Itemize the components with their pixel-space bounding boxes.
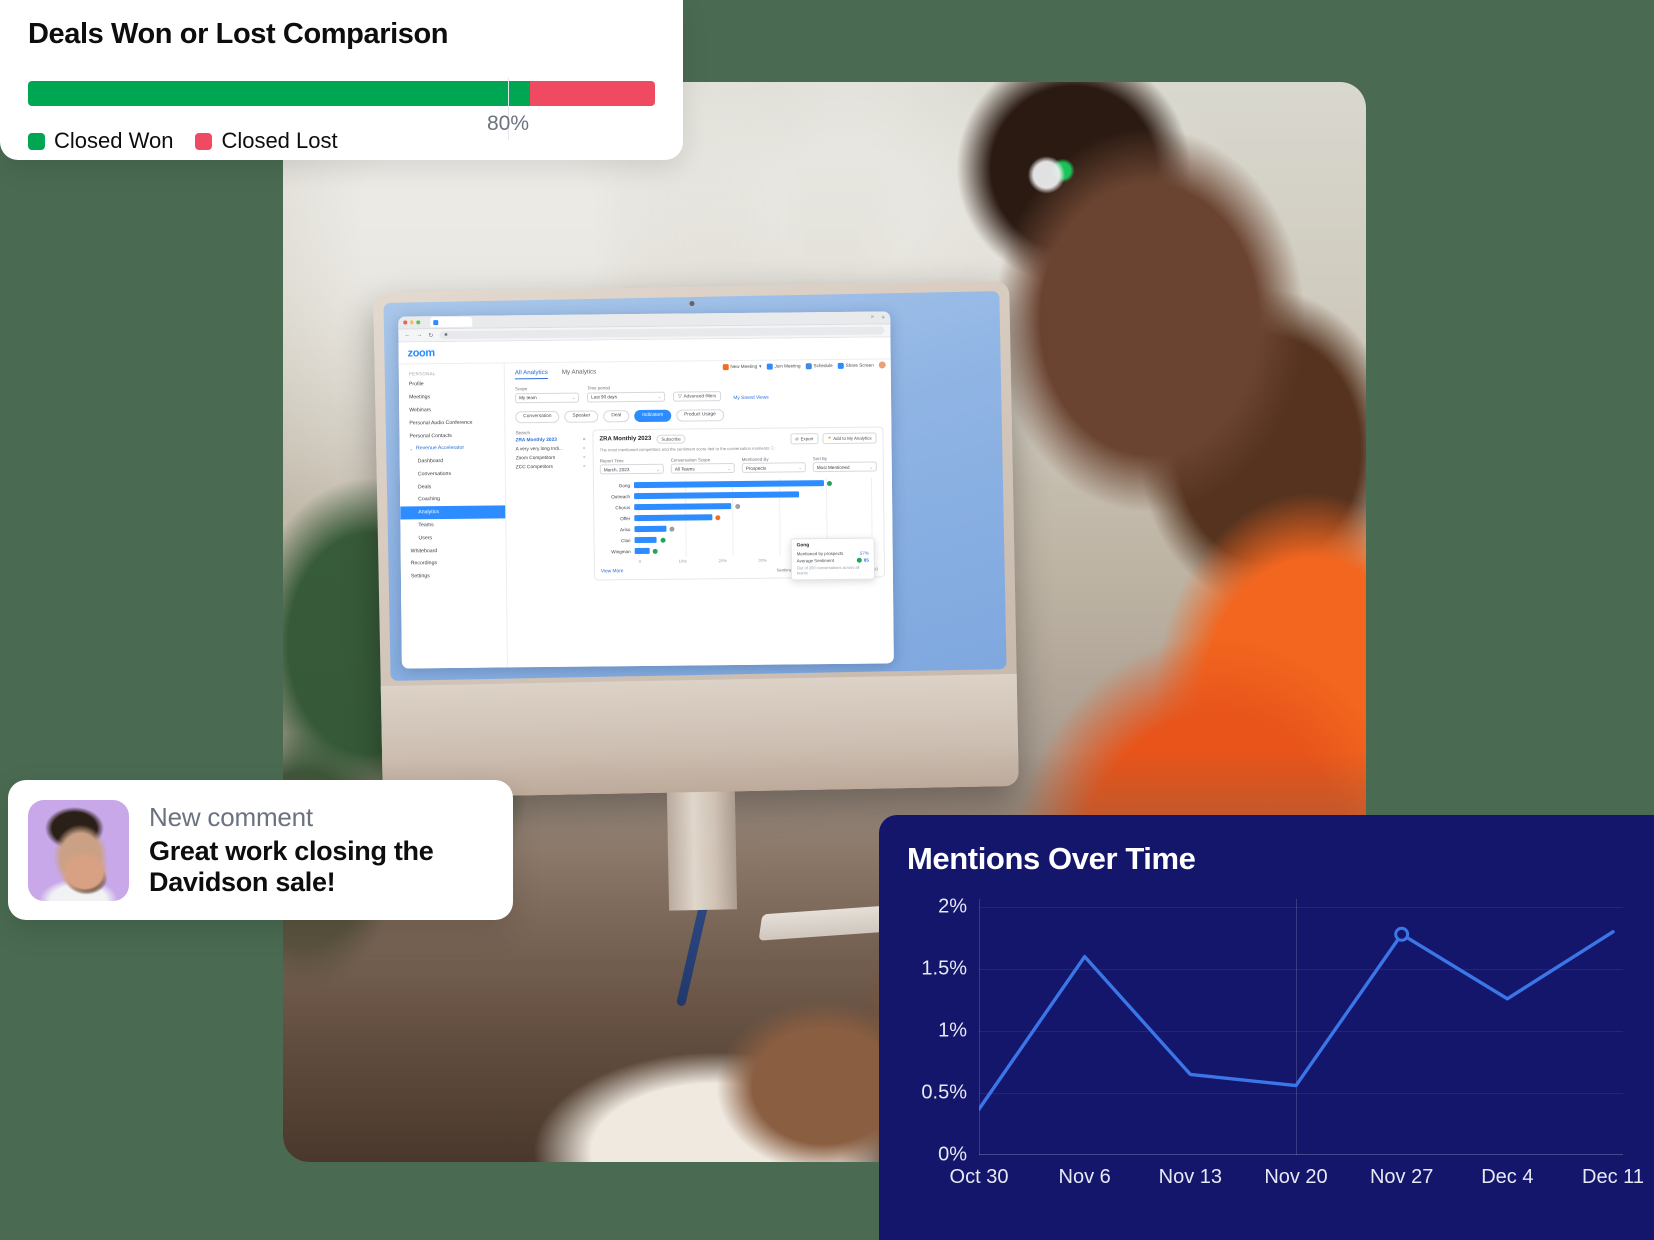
pill-product-usage[interactable]: Product Usage [676, 409, 724, 421]
subscribe-button[interactable]: Subscribe [656, 434, 686, 443]
pill-deal[interactable]: Deal [603, 410, 629, 422]
sidebar-item-whiteboard[interactable]: Whiteboard [401, 544, 506, 558]
favicon-icon [433, 320, 438, 325]
export-button[interactable]: ⎆ Export [790, 433, 818, 444]
deals-legend: Closed Won Closed Lost [28, 128, 655, 154]
bar-label: Ariso [600, 527, 634, 532]
comment-kicker: New comment [149, 802, 493, 833]
export-label: Export [801, 436, 814, 441]
tooltip-label: Mentioned by prospects [797, 550, 844, 555]
time-period-label: Time period [587, 385, 665, 391]
y-axis-tick: 0% [907, 1144, 967, 1167]
close-icon[interactable] [403, 321, 407, 325]
line-series [979, 899, 1623, 1189]
chevron-down-icon: ▾ [759, 363, 761, 369]
swatch-red-icon [195, 133, 212, 150]
bar-label: Chorus [600, 505, 634, 510]
browser-tab[interactable] [430, 317, 472, 327]
scope-label: Scope [515, 386, 579, 392]
chevron-down-icon: ⌄ [727, 466, 730, 471]
sentiment-dot-positive [827, 481, 832, 486]
closed-won-segment [28, 81, 530, 106]
minimize-icon[interactable] [410, 321, 414, 325]
star-icon: ★ [827, 435, 831, 441]
sidebar-item-users[interactable]: Users [400, 531, 505, 545]
y-axis-tick: 2% [907, 896, 967, 919]
scope-select[interactable]: My team ⌄ [515, 392, 579, 403]
category-pills: Conversation Speaker Deal Indicators Pro… [515, 407, 883, 423]
report-time-select[interactable]: March, 2023 ⌄ [600, 464, 664, 475]
closed-lost-label: Closed Lost [221, 128, 337, 154]
report-time-filter: Report Time March, 2023 ⌄ [600, 457, 664, 474]
report-time-label: Report Time [600, 457, 664, 463]
mentioned-by-filter: Mentioned By Prospects ⌄ [742, 456, 806, 473]
legend-closed-lost: Closed Lost [195, 128, 337, 154]
search-label: Search [515, 429, 585, 435]
mentions-over-time-card: Mentions Over Time 0%0.5%1%1.5%2%Oct 30N… [879, 815, 1654, 1240]
sidebar-item-recordings[interactable]: Recordings [401, 556, 506, 570]
share-screen-label: Share Screen [846, 363, 874, 368]
zoom-logo[interactable]: zoom [408, 347, 435, 359]
card-title: ZRA Monthly 2023 [599, 436, 651, 443]
chart-title: Mentions Over Time [907, 841, 1654, 877]
bar-fill [634, 491, 799, 499]
schedule-button[interactable]: Schedule [805, 362, 832, 368]
legend-closed-won: Closed Won [28, 128, 173, 154]
pill-indicators[interactable]: Indicators [634, 409, 671, 421]
competitor-bar-chart: Gong Outreach [600, 478, 878, 558]
chip-label: Zoom Competitors [516, 455, 556, 460]
x-tick: 0 [639, 559, 679, 564]
bar-fill [635, 548, 650, 554]
tooltip-label: Average Sentiment [797, 557, 834, 562]
chevron-down-icon: ⌄ [656, 466, 659, 471]
close-icon[interactable]: × [583, 455, 586, 460]
card-description: The most mentioned competitors and the s… [600, 444, 877, 453]
avatar [28, 800, 129, 901]
chip-label: ZCC Competitors [516, 464, 553, 469]
chevron-down-icon: ⌄ [869, 464, 872, 469]
close-icon[interactable]: × [583, 464, 586, 469]
sort-by-value: Most Mentioned [817, 464, 850, 469]
tooltip-value: 85 [857, 557, 869, 562]
my-saved-views-link[interactable]: My Saved Views [733, 395, 768, 400]
mentions-line-chart: 0%0.5%1%1.5%2%Oct 30Nov 6Nov 13Nov 20Nov… [907, 899, 1623, 1189]
sidebar-item-analytics[interactable]: Analytics [400, 505, 505, 519]
sentiment-dot-neutral [670, 526, 675, 531]
tooltip-row-sentiment: Average Sentiment 85 [797, 557, 869, 563]
avatar-photo [28, 800, 129, 901]
sidebar-item-profile[interactable]: Profile [399, 377, 504, 391]
sentiment-dot-positive [653, 548, 658, 553]
chevron-down-icon: ⌄ [410, 446, 413, 451]
card-filter-row: Report Time March, 2023 ⌄ Conversation S… [600, 455, 877, 474]
join-meeting-button[interactable]: Join Meeting [766, 363, 800, 369]
sentiment-dot-neutral [735, 504, 740, 509]
comment-message: Great work closing the Davidson sale! [149, 836, 493, 899]
share-screen-button[interactable]: Share Screen [838, 362, 874, 368]
my-saved-views-label: My Saved Views [733, 395, 768, 400]
back-icon[interactable]: ← [404, 332, 410, 338]
bar-label: Offer [600, 516, 634, 521]
bar-label: Wingman [601, 549, 635, 554]
swatch-green-icon [28, 133, 45, 150]
sidebar-item-teams[interactable]: Teams [400, 518, 505, 532]
page-title: Deals Won or Lost Comparison [28, 18, 655, 51]
browser-window[interactable]: × + ← → ↻ ■ zoom PERSONAL Profil [398, 311, 894, 668]
zoom-app: zoom PERSONAL Profile Meetings Webinars … [398, 337, 893, 668]
reload-icon[interactable]: ↻ [428, 332, 433, 339]
sort-by-label: Sort By [813, 455, 877, 461]
schedule-label: Schedule [813, 363, 832, 368]
new-tab-icon[interactable]: + [881, 314, 885, 321]
bar-fill [634, 503, 731, 510]
add-label: Add to My Analytics [833, 435, 871, 440]
deals-comparison-card: Deals Won or Lost Comparison Closed Won … [0, 0, 683, 160]
sort-by-filter: Sort By Most Mentioned ⌄ [813, 455, 877, 472]
sidebar-item-settings[interactable]: Settings [401, 569, 506, 583]
time-period-value: Last 90 days [591, 394, 617, 399]
deals-percent-label: 80% [487, 112, 529, 136]
bar-tooltip: Gong Mentioned by prospects 57% Average … [791, 538, 875, 581]
sentiment-dot-positive [857, 557, 862, 562]
close-icon[interactable]: × [583, 446, 586, 451]
add-to-my-analytics-button[interactable]: ★ Add to My Analytics [822, 432, 876, 444]
maximize-icon[interactable] [416, 321, 420, 325]
pill-speaker[interactable]: Speaker [564, 410, 598, 422]
tooltip-title: Gong [797, 543, 869, 549]
scope-value: My team [519, 395, 537, 400]
bar-label: Clari [601, 538, 635, 543]
forward-icon[interactable]: → [416, 332, 422, 338]
y-axis-tick: 1.5% [907, 958, 967, 981]
sidebar-item-coaching[interactable]: Coaching [400, 492, 505, 506]
info-icon[interactable]: ⓘ [770, 445, 774, 450]
filter-icon: ▽ [678, 393, 682, 399]
imac-screen: × + ← → ↻ ■ zoom PERSONAL Profil [383, 291, 1006, 681]
report-time-value: March, 2023 [604, 467, 630, 472]
tooltip-row-mentioned: Mentioned by prospects 57% [797, 550, 869, 556]
deals-progress-bar [28, 81, 655, 106]
sentiment-dot-positive [660, 537, 665, 542]
tab-close-icon[interactable]: × [871, 315, 879, 321]
search-chip-zcc-competitors[interactable]: ZCC Competitors × [516, 464, 586, 470]
app-main: New Meeting ▾ Join Meeting Schedule [504, 337, 893, 667]
closed-won-label: Closed Won [54, 128, 173, 154]
sidebar-item-revenue-accelerator[interactable]: ⌄ Revenue Accelerator [400, 441, 505, 455]
new-comment-card[interactable]: New comment Great work closing the David… [8, 780, 513, 920]
sort-by-select[interactable]: Most Mentioned ⌄ [813, 462, 877, 473]
sidebar-item-conversations[interactable]: Conversations [400, 467, 505, 481]
comment-text-block: New comment Great work closing the David… [149, 802, 493, 899]
card-actions: ⎆ Export ★ Add to My Analytics [790, 432, 877, 444]
search-chip-long-indicator[interactable]: A very very long Indi... × [516, 446, 586, 452]
close-icon[interactable]: × [583, 437, 586, 442]
conversation-scope-value: All Teams [675, 466, 695, 471]
scope-filter: Scope My team ⌄ [515, 386, 579, 403]
x-tick: 20% [718, 558, 758, 563]
tab-my-analytics[interactable]: My Analytics [562, 368, 596, 378]
filter-bar: Scope My team ⌄ Time period Last 90 days [515, 382, 883, 402]
zra-report-card: ZRA Monthly 2023 Subscribe ⎆ Export [592, 426, 885, 581]
view-more-link[interactable]: View More [601, 569, 624, 574]
search-chip-zoom-competitors[interactable]: Zoom Competitors × [516, 455, 586, 461]
sidebar-item-label: Revenue Accelerator [416, 445, 464, 452]
video-icon [722, 364, 728, 370]
join-meeting-label: Join Meeting [774, 363, 800, 368]
conversation-scope-filter: Conversation Scope All Teams ⌄ [671, 457, 735, 474]
bar-label: Outreach [600, 494, 634, 499]
pill-conversation[interactable]: Conversation [515, 410, 559, 422]
chevron-down-icon: ⌄ [658, 394, 661, 399]
time-period-select[interactable]: Last 90 days ⌄ [587, 391, 665, 402]
chevron-down-icon: ⌄ [798, 465, 801, 470]
y-axis-tick: 1% [907, 1020, 967, 1043]
chip-label: A very very long Indi... [516, 446, 563, 451]
plus-square-icon [766, 363, 772, 369]
webcam-icon [689, 301, 694, 306]
content-columns: Search ZRA Monthly 2023 × A very very lo… [515, 426, 885, 581]
tooltip-value: 57% [860, 550, 869, 555]
calendar-icon [805, 363, 811, 369]
imac-computer: × + ← → ↻ ■ zoom PERSONAL Profil [373, 281, 1019, 798]
export-icon: ⎆ [795, 436, 799, 441]
conversation-scope-select[interactable]: All Teams ⌄ [671, 463, 735, 474]
advanced-filters-label: Advanced filters [684, 393, 717, 398]
chip-label: ZRA Monthly 2023 [515, 437, 556, 442]
mentioned-by-value: Prospects [746, 465, 766, 470]
sidebar-item-personal-audio-conference[interactable]: Personal Audio Conference [399, 416, 504, 430]
tab-all-analytics[interactable]: All Analytics [515, 369, 548, 379]
share-icon [838, 362, 844, 368]
app-sidebar: PERSONAL Profile Meetings Webinars Perso… [398, 341, 507, 668]
mentioned-by-label: Mentioned By [742, 456, 806, 462]
y-axis-tick: 0.5% [907, 1082, 967, 1105]
sidebar-item-meetings[interactable]: Meetings [399, 390, 504, 404]
search-chip-zra-monthly[interactable]: ZRA Monthly 2023 × [515, 437, 585, 443]
lock-icon: ■ [444, 332, 447, 338]
sentiment-dot-negative [716, 515, 721, 520]
imac-stand [667, 787, 737, 910]
new-meeting-button[interactable]: New Meeting ▾ [722, 363, 761, 369]
x-tick: 10% [679, 558, 719, 563]
bar-label: Gong [600, 483, 634, 488]
data-point-marker[interactable] [1396, 928, 1408, 940]
advanced-filters-button[interactable]: ▽ Advanced filters [673, 391, 721, 402]
sidebar-item-webinars[interactable]: Webinars [399, 403, 504, 417]
time-period-filter: Time period Last 90 days ⌄ [587, 385, 665, 402]
bar-fill [635, 537, 657, 543]
mentioned-by-select[interactable]: Prospects ⌄ [742, 462, 806, 473]
description-text: The most mentioned competitors and the s… [600, 445, 770, 452]
conversation-scope-label: Conversation Scope [671, 457, 735, 463]
sidebar-item-dashboard[interactable]: Dashboard [400, 454, 505, 468]
search-panel: Search ZRA Monthly 2023 × A very very lo… [515, 429, 587, 581]
bar-fill [634, 480, 824, 488]
bar-fill [634, 514, 712, 521]
bar-fill [634, 526, 666, 533]
sidebar-item-personal-contacts[interactable]: Personal Contacts [399, 429, 504, 443]
sidebar-item-deals[interactable]: Deals [400, 480, 505, 494]
closed-lost-segment [530, 81, 655, 106]
tooltip-footer: Out of 200 conversations across all team… [797, 564, 869, 576]
avatar[interactable] [879, 361, 886, 368]
chevron-down-icon: ⌄ [572, 395, 575, 400]
new-meeting-label: New Meeting [730, 364, 757, 369]
